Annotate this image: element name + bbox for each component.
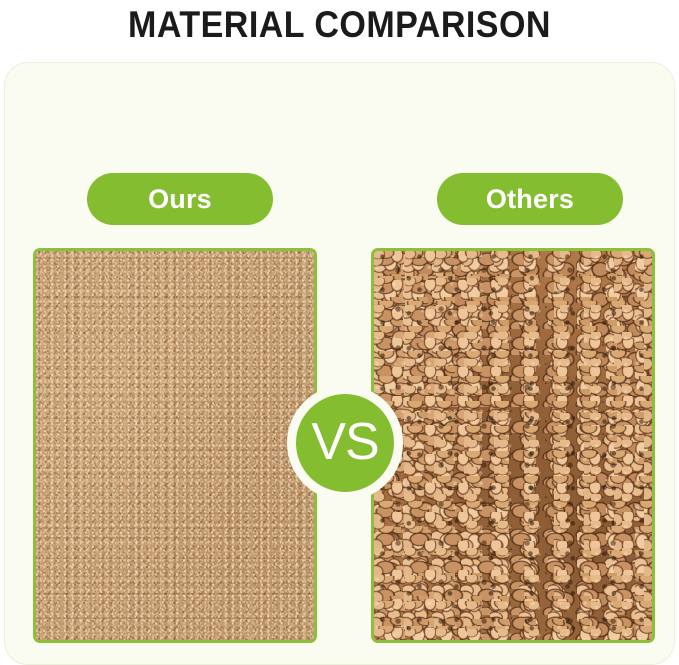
caption-ours: HIGH DENSITY: [43, 661, 307, 665]
page-title: MATERIAL COMPARISON: [27, 0, 652, 52]
material-swatch-ours: [33, 248, 317, 643]
material-swatch-others: [371, 248, 655, 643]
coarse-sparse-cork-texture: [374, 251, 652, 640]
comparison-card: Ours Others VS HIGH DENSITY SPARSE CPRD: [4, 62, 675, 665]
vs-badge: VS: [287, 385, 403, 501]
badge-others: Others: [437, 173, 623, 225]
caption-others: SPARSE CPRD: [381, 661, 645, 665]
fine-dense-cork-texture: [36, 251, 314, 640]
vs-label: VS: [311, 416, 378, 468]
badge-ours: Ours: [87, 173, 273, 225]
